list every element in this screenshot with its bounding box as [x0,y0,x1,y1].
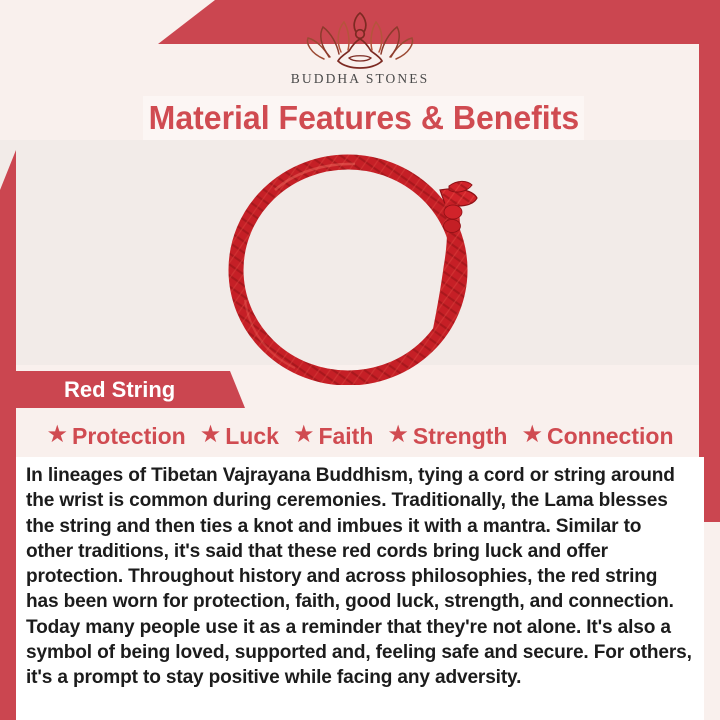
star-icon: ★ [521,423,543,447]
star-icon: ★ [200,423,222,447]
infographic-page: BUDDHA STONES Material Features & Benefi… [0,0,720,720]
star-icon: ★ [46,423,68,447]
star-icon: ★ [387,423,409,447]
benefit-label: Strength [413,423,508,450]
benefit-item: ★ Luck [200,423,279,450]
page-title-band: Material Features & Benefits [143,96,584,140]
benefit-item: ★ Strength [387,423,507,450]
material-label: Red String [64,377,175,403]
benefit-item: ★ Protection [46,423,185,450]
decor-bottom-left-band [0,660,16,720]
star-icon: ★ [293,423,315,447]
lotus-meditation-icon [300,12,420,70]
benefit-label: Faith [318,423,373,450]
brand-wordmark: BUDDHA STONES [291,71,429,87]
brand-logo: BUDDHA STONES [0,12,720,94]
benefit-label: Protection [72,423,186,450]
benefit-label: Luck [225,423,279,450]
page-title: Material Features & Benefits [148,99,578,137]
red-string-bracelet-icon [215,150,505,385]
description-card: In lineages of Tibetan Vajrayana Buddhis… [16,457,704,720]
benefit-label: Connection [547,423,674,450]
material-label-banner: Red String [0,371,245,408]
benefit-item: ★ Faith [293,423,373,450]
product-image [0,150,720,385]
benefits-row: ★ Protection ★ Luck ★ Faith ★ Strength ★… [0,414,720,458]
benefit-item: ★ Connection [521,423,673,450]
description-paragraph: In lineages of Tibetan Vajrayana Buddhis… [26,463,692,691]
